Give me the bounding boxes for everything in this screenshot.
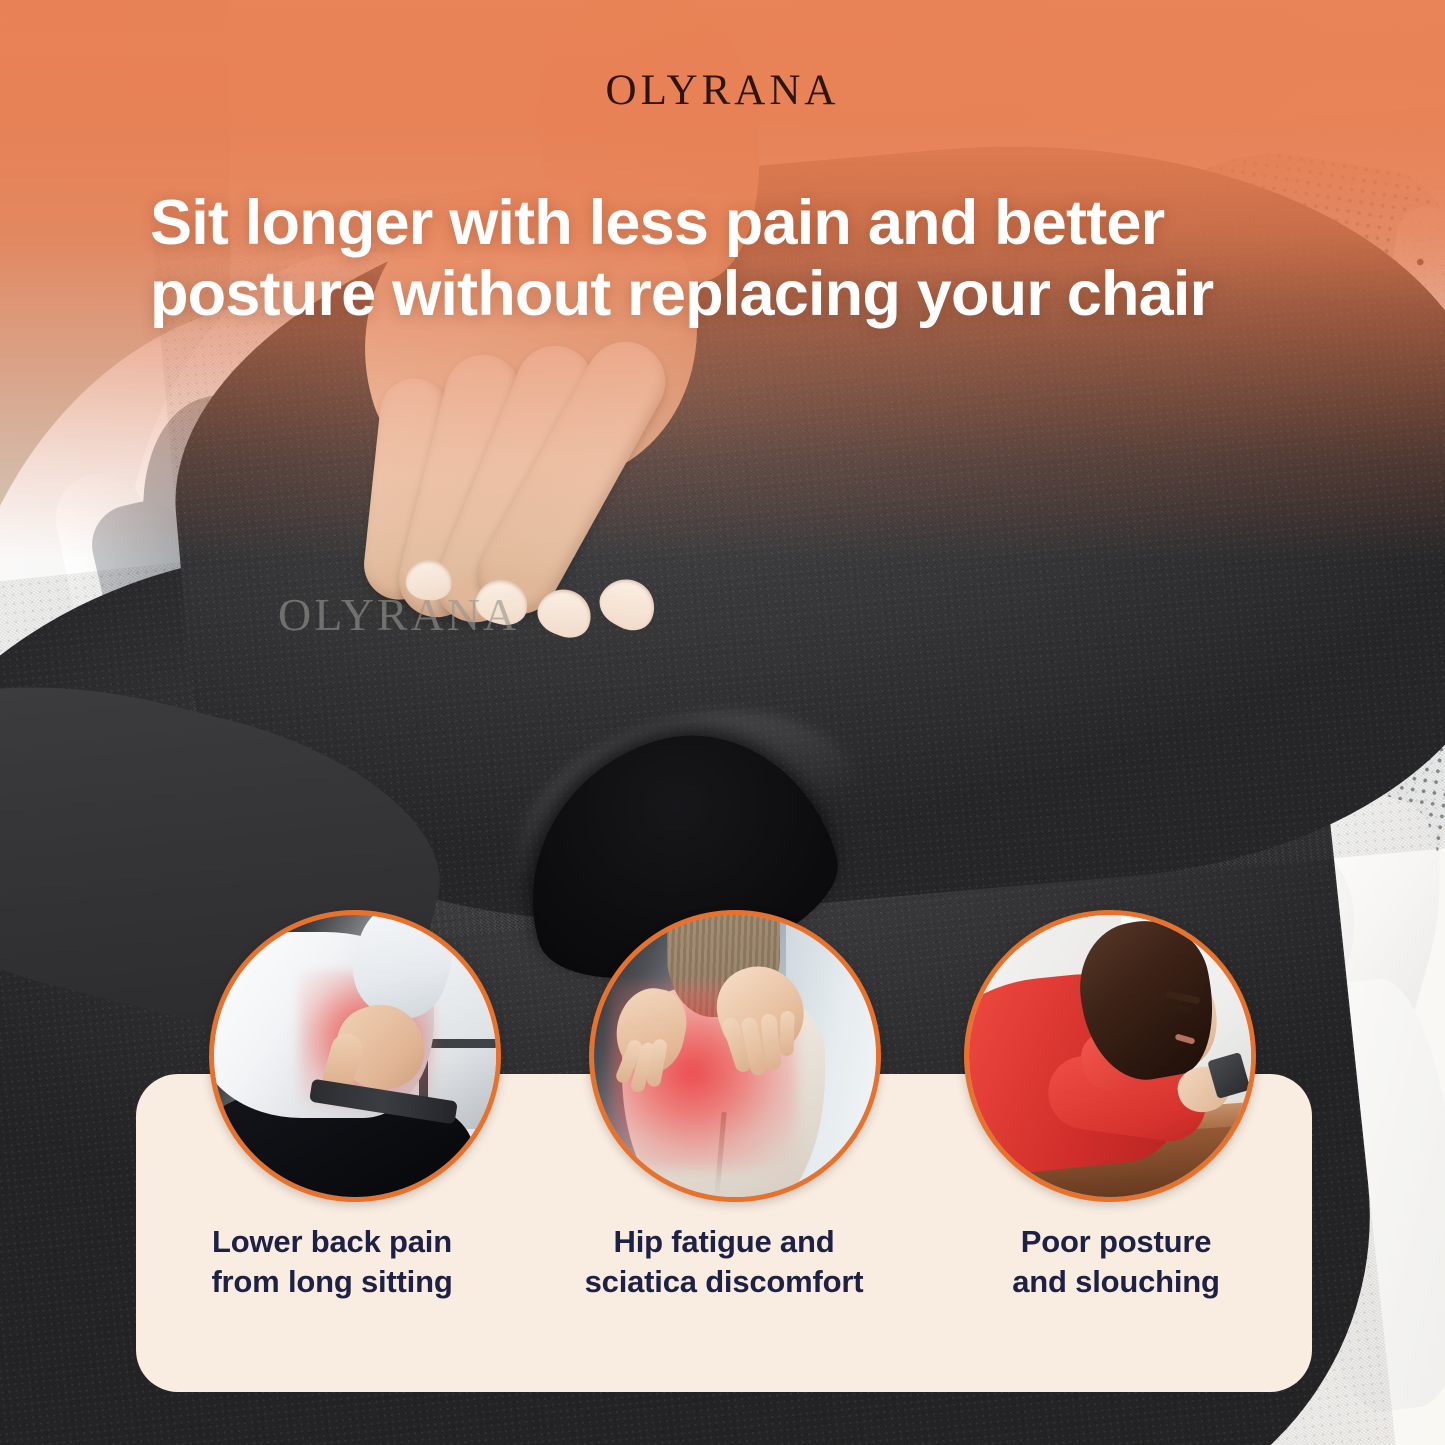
caption-line-1: Lower back pain — [136, 1222, 528, 1262]
caption-line-2: and slouching — [920, 1262, 1312, 1302]
caption-line-2: from long sitting — [136, 1262, 528, 1302]
pain-point-caption-lower-back: Lower back pain from long sitting — [136, 1222, 528, 1301]
caption-line-2: sciatica discomfort — [528, 1262, 920, 1302]
pain-point-image-poor-posture — [964, 910, 1256, 1202]
pain-point-caption-hip-sciatica: Hip fatigue and sciatica discomfort — [528, 1222, 920, 1301]
caption-line-1: Hip fatigue and — [528, 1222, 920, 1262]
caption-line-1: Poor posture — [920, 1222, 1312, 1262]
pain-point-image-hip-sciatica — [589, 910, 881, 1202]
pain-point-image-lower-back — [209, 910, 501, 1202]
product-listing-image: OLYRANA Sit longer with less pain and be… — [0, 0, 1445, 1445]
pain-point-captions: Lower back pain from long sitting Hip fa… — [136, 1222, 1312, 1301]
finger — [779, 1011, 795, 1057]
pain-point-caption-poor-posture: Poor posture and slouching — [920, 1222, 1312, 1301]
